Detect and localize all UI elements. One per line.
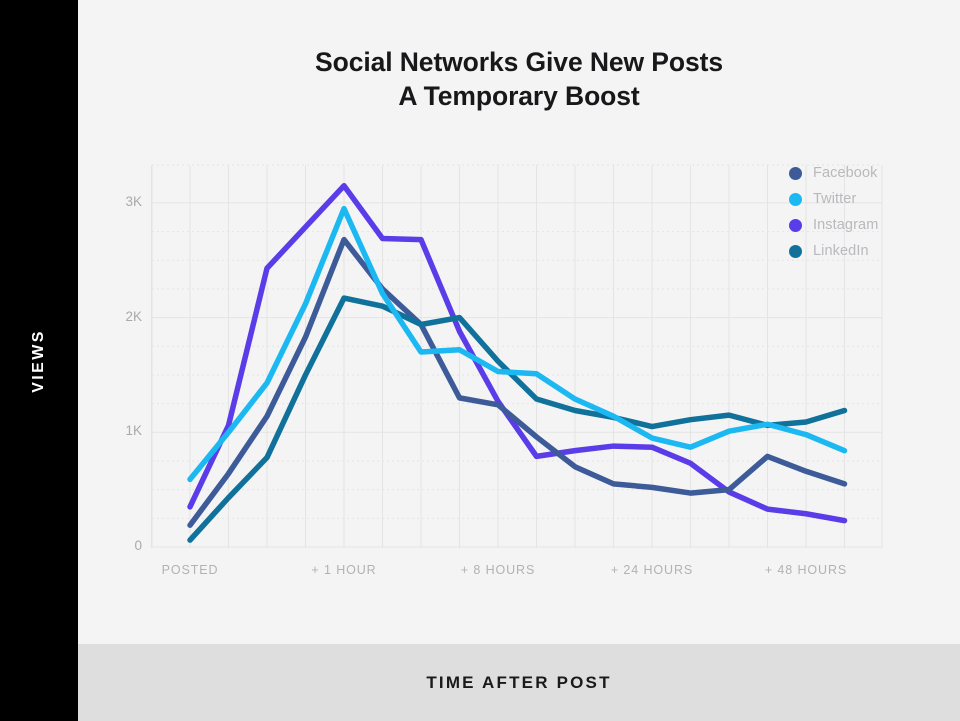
legend-item-label: Instagram — [813, 217, 878, 233]
circle-dot-icon — [789, 167, 802, 180]
legend-item-label: Facebook — [813, 165, 877, 181]
chart-legend: FacebookTwitterInstagramLinkedIn — [789, 160, 949, 264]
x-axis-tick-label: + 1 HOUR — [311, 563, 376, 577]
x-axis-tick-label: POSTED — [162, 563, 219, 577]
legend-item-linkedin[interactable]: LinkedIn — [789, 238, 949, 264]
circle-dot-icon — [789, 219, 802, 232]
x-axis-tick-labels: POSTED+ 1 HOUR+ 8 HOURS+ 24 HOURS+ 48 HO… — [0, 0, 960, 721]
legend-item-facebook[interactable]: Facebook — [789, 160, 949, 186]
legend-item-label: LinkedIn — [813, 243, 869, 259]
x-axis-tick-label: + 8 HOURS — [461, 563, 535, 577]
x-axis-tick-label: + 24 HOURS — [611, 563, 693, 577]
chart-page: VIEWS Social Networks Give New Posts A T… — [0, 0, 960, 721]
circle-dot-icon — [789, 245, 802, 258]
legend-item-label: Twitter — [813, 191, 856, 207]
x-axis-title: TIME AFTER POST — [426, 673, 611, 693]
legend-item-twitter[interactable]: Twitter — [789, 186, 949, 212]
circle-dot-icon — [789, 193, 802, 206]
legend-item-instagram[interactable]: Instagram — [789, 212, 949, 238]
x-axis-bar: TIME AFTER POST — [78, 644, 960, 721]
x-axis-tick-label: + 48 HOURS — [765, 563, 847, 577]
